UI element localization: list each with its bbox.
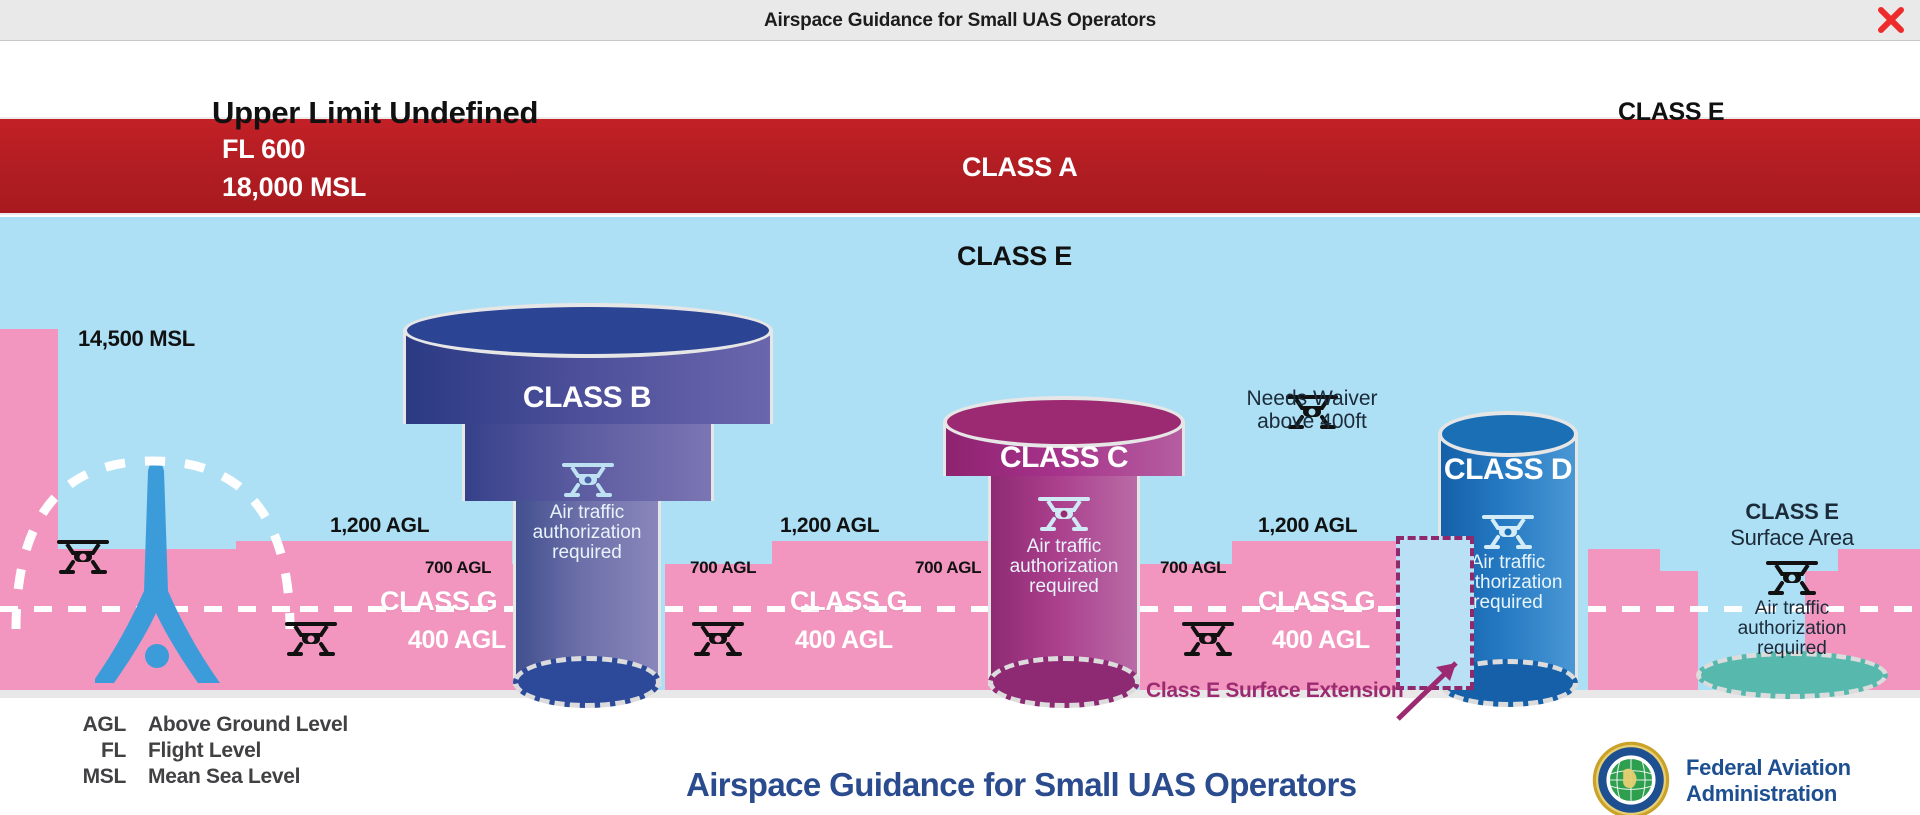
class-e-surface-note: Air traffic authorization required bbox=[1702, 599, 1882, 659]
close-icon[interactable] bbox=[1874, 3, 1908, 37]
surface-extension-arrow bbox=[1388, 601, 1518, 726]
agl-700-label: 700 AGL bbox=[690, 558, 756, 578]
legend-row: MSL Mean Sea Level bbox=[48, 765, 448, 789]
legend-row: AGL Above Ground Level bbox=[48, 713, 448, 737]
agl-1200-label: 1,200 AGL bbox=[780, 514, 879, 538]
agl-700-label: 700 AGL bbox=[425, 558, 491, 578]
legend: AGL Above Ground Level FL Flight Level M… bbox=[48, 713, 448, 791]
faa-agency-name: Federal Aviation Administration bbox=[1686, 755, 1851, 807]
class-g-label: CLASS G bbox=[1258, 586, 1375, 617]
agl-400-label: 400 AGL bbox=[408, 626, 506, 655]
waiver-line2: above 400ft bbox=[1257, 410, 1367, 433]
class-b-note: Air traffic authorization required bbox=[508, 503, 666, 563]
window-title: Airspace Guidance for Small UAS Operator… bbox=[0, 0, 1920, 41]
agl-400-label: 400 AGL bbox=[1272, 626, 1370, 655]
window-titlebar: Airspace Guidance for Small UAS Operator… bbox=[0, 0, 1920, 41]
class-e-top-label: CLASS E bbox=[1618, 98, 1724, 127]
class-g-terrain bbox=[1588, 571, 1698, 690]
legend-def: Flight Level bbox=[148, 739, 261, 763]
class-c-title: CLASS C bbox=[988, 441, 1140, 475]
drone-icon bbox=[1480, 511, 1536, 551]
legend-abbr: MSL bbox=[48, 765, 126, 789]
upper-limit-label: Upper Limit Undefined bbox=[212, 95, 538, 131]
faa-line2: Administration bbox=[1686, 781, 1837, 806]
agl-700-label: 700 AGL bbox=[915, 558, 981, 578]
faa-line1: Federal Aviation bbox=[1686, 755, 1851, 780]
legend-abbr: AGL bbox=[48, 713, 126, 737]
class-g-label: CLASS G bbox=[380, 586, 497, 617]
msl-18000-label: 18,000 MSL bbox=[222, 172, 366, 203]
signal-arc bbox=[8, 451, 298, 631]
drone-icon bbox=[1036, 493, 1092, 533]
drone-icon bbox=[1180, 618, 1236, 658]
waiver-note: Needs Waiver above 400ft bbox=[1232, 387, 1392, 433]
drone-icon bbox=[1764, 557, 1820, 597]
class-c-note: Air traffic authorization required bbox=[983, 537, 1145, 597]
drone-icon bbox=[690, 618, 746, 658]
ground-strip bbox=[0, 690, 1920, 698]
class-g-label: CLASS G bbox=[790, 586, 907, 617]
legend-row: FL Flight Level bbox=[48, 739, 448, 763]
legend-def: Mean Sea Level bbox=[148, 765, 300, 789]
class-e-surface-title: CLASS E bbox=[1692, 499, 1892, 525]
class-e-surface-subtitle: Surface Area bbox=[1692, 525, 1892, 551]
fl600-label: FL 600 bbox=[222, 134, 305, 165]
poster-footer-title: Airspace Guidance for Small UAS Operator… bbox=[686, 766, 1356, 804]
class-e-surface-extension-label: Class E Surface Extension bbox=[1146, 679, 1403, 703]
faa-seal-icon bbox=[1592, 741, 1670, 815]
class-d-title: CLASS D bbox=[1430, 453, 1586, 487]
legend-abbr: FL bbox=[48, 739, 126, 763]
drone-icon bbox=[560, 459, 616, 499]
waiver-line1: Needs Waiver bbox=[1246, 387, 1377, 410]
airspace-diagram: Upper Limit Undefined CLASS E CLASS A CL… bbox=[0, 41, 1920, 815]
legend-def: Above Ground Level bbox=[148, 713, 348, 737]
msl-14500-label: 14,500 MSL bbox=[78, 326, 195, 352]
agl-1200-label: 1,200 AGL bbox=[1258, 514, 1357, 538]
class-b-title: CLASS B bbox=[513, 381, 661, 415]
drone-icon bbox=[55, 536, 111, 576]
class-e-mid-label: CLASS E bbox=[957, 241, 1072, 272]
agl-700-label: 700 AGL bbox=[1160, 558, 1226, 578]
agl-1200-label: 1,200 AGL bbox=[330, 514, 429, 538]
agl-400-label: 400 AGL bbox=[795, 626, 893, 655]
drone-icon bbox=[283, 618, 339, 658]
class-a-label: CLASS A bbox=[962, 152, 1077, 183]
